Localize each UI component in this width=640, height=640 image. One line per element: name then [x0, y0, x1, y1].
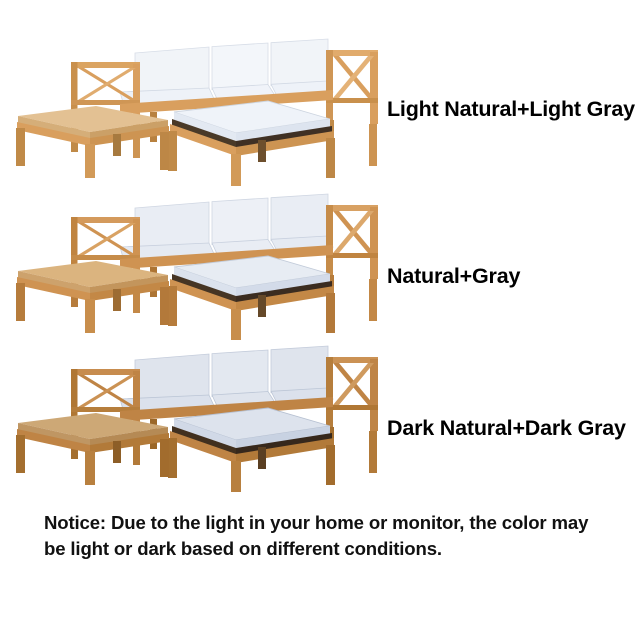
right-arm-post-back [370, 52, 378, 124]
ottoman-leg-front-left [168, 286, 177, 326]
sofa-back-cushion-left [135, 47, 209, 93]
color-disclaimer-notice: Notice: Due to the light in your home or… [44, 510, 604, 563]
ottoman-leg-front-center [231, 461, 241, 492]
ottoman-leg-rear [258, 140, 266, 162]
right-arm-post-back [370, 359, 378, 431]
ottoman-group [168, 101, 335, 186]
left-arm-top-rail [71, 369, 140, 375]
right-arm-post-back [370, 207, 378, 279]
sofa-back-cushion-center [212, 350, 268, 397]
furniture-illustration [0, 186, 380, 340]
variant-label-light-natural: Light Natural+Light Gray [387, 97, 640, 122]
furniture-illustration [0, 0, 380, 186]
coffee-table-leg-rear [113, 289, 121, 311]
ottoman-leg-right [326, 138, 335, 178]
sofa-back-cushion-left [135, 354, 209, 400]
coffee-table-leg-rear [113, 441, 121, 463]
right-arm-leg-back [369, 279, 377, 321]
furniture-illustration [0, 340, 380, 492]
sofa-back-cushion-center [212, 198, 268, 245]
left-arm-post-back [133, 371, 140, 429]
ottoman-leg-right [326, 445, 335, 485]
variant-row-light-natural: Light Natural+Light Gray [0, 0, 640, 186]
sofa-back-cushion-right [271, 39, 328, 86]
left-arm-post-back [133, 219, 140, 277]
variant-row-natural: Natural+Gray [0, 186, 640, 340]
coffee-table-leg-front-center [85, 144, 95, 178]
right-arm-leg-back [369, 124, 377, 166]
ottoman-leg-rear [258, 447, 266, 469]
furniture-set-image-natural [0, 186, 380, 340]
coffee-table-leg-right [160, 287, 169, 325]
ottoman-leg-front-center [231, 154, 241, 186]
left-arm-top-rail [71, 62, 140, 68]
variant-row-dark-natural: Dark Natural+Dark Gray [0, 340, 640, 492]
ottoman-leg-front-left [168, 438, 177, 478]
ottoman-group [168, 408, 335, 492]
coffee-table-leg-right [160, 439, 169, 477]
coffee-table-leg-front-left [16, 435, 25, 473]
right-arm-post-front [326, 50, 333, 120]
right-arm-bottom-rail [326, 98, 378, 103]
sofa-back-cushion-right [271, 346, 328, 393]
ottoman-leg-right [326, 293, 335, 333]
right-arm-post-front [326, 357, 333, 427]
right-arm-bottom-rail [326, 405, 378, 410]
right-arm-leg-back [369, 431, 377, 473]
variant-label-natural: Natural+Gray [387, 264, 640, 289]
coffee-table-leg-front-center [85, 451, 95, 485]
coffee-table-group [16, 261, 169, 333]
right-arm-bottom-rail [326, 253, 378, 258]
furniture-set-image-dark-natural [0, 340, 380, 492]
sofa-back-cushion-center [212, 43, 268, 90]
ottoman-leg-rear [258, 295, 266, 317]
coffee-table-leg-right [160, 132, 169, 170]
sofa-back-cushion-left [135, 202, 209, 248]
coffee-table-leg-front-left [16, 283, 25, 321]
color-variant-list: Light Natural+Light Gray [0, 0, 640, 492]
ottoman-leg-front-center [231, 309, 241, 340]
coffee-table-group [16, 413, 169, 485]
furniture-set-image-light-natural [0, 0, 380, 186]
sofa-back-cushion-right [271, 194, 328, 241]
variant-label-dark-natural: Dark Natural+Dark Gray [387, 416, 640, 441]
left-arm-post-back [133, 64, 140, 122]
right-arm-post-front [326, 205, 333, 275]
coffee-table-leg-rear [113, 134, 121, 156]
coffee-table-leg-front-left [16, 128, 25, 166]
ottoman-leg-front-left [168, 131, 177, 171]
ottoman-group [168, 256, 335, 340]
left-arm-top-rail [71, 217, 140, 223]
coffee-table-group [16, 106, 169, 178]
coffee-table-leg-front-center [85, 299, 95, 333]
